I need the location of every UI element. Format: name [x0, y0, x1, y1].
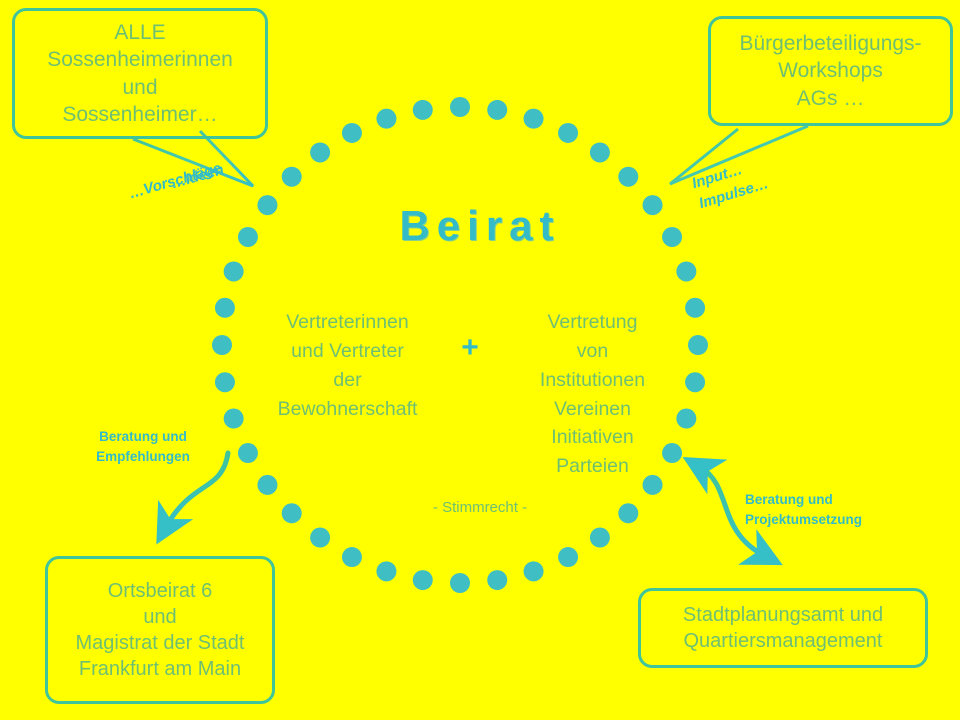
workshops-line-3: AGs …: [797, 85, 865, 112]
ring-dot: [685, 372, 705, 392]
workshops-line-2: Workshops: [778, 57, 883, 84]
ring-dot: [524, 561, 544, 581]
ring-dot: [688, 335, 708, 355]
ring-dot: [342, 547, 362, 567]
left-col-line-1: Vertreterinnen: [260, 308, 435, 337]
residents-speech-bubble: ALLE Sossenheimerinnen und Sossenheimer…: [12, 8, 268, 139]
residents-line-3: und: [122, 74, 157, 101]
ring-dot: [413, 570, 433, 590]
residents-line-2: Sossenheimerinnen: [47, 46, 233, 73]
right-col-line-6: Parteien: [505, 452, 680, 481]
ring-dot: [215, 372, 235, 392]
ortsbeirat-line-3: Magistrat der Stadt: [76, 630, 245, 656]
ring-dot: [590, 528, 610, 548]
ring-dot: [450, 97, 470, 117]
ring-dot: [376, 561, 396, 581]
ring-dot: [212, 335, 232, 355]
ring-dot: [558, 547, 578, 567]
ring-dot: [238, 443, 258, 463]
ring-dot: [342, 123, 362, 143]
ring-dot: [282, 167, 302, 187]
stadtplanung-line-2: Quartiersmanagement: [684, 628, 883, 654]
workshops-line-1: Bürgerbeteiligungs-: [739, 30, 921, 57]
ring-dot: [450, 573, 470, 593]
ortsbeirat-line-2: und: [143, 604, 176, 630]
ring-dot: [618, 167, 638, 187]
diagram-canvas: ALLE Sossenheimerinnen und Sossenheimer……: [0, 0, 960, 720]
caption-right-line-1: Beratung und: [745, 490, 910, 510]
ortsbeirat-line-4: Frankfurt am Main: [79, 656, 241, 682]
left-column-bewohnerschaft: Vertreterinnen und Vertreter der Bewohne…: [260, 308, 435, 423]
right-col-line-2: von: [505, 337, 680, 366]
ortsbeirat-line-1: Ortsbeirat 6: [108, 578, 212, 604]
beirat-title: Beirat: [0, 202, 960, 250]
right-col-line-5: Initiativen: [505, 423, 680, 452]
plus-icon: +: [447, 308, 493, 363]
right-col-line-1: Vertretung: [505, 308, 680, 337]
ring-dot: [310, 528, 330, 548]
residents-line-1: ALLE: [114, 19, 165, 46]
left-col-line-2: und Vertreter: [260, 337, 435, 366]
left-col-line-3: der: [260, 366, 435, 395]
beirat-composition: Vertreterinnen und Vertreter der Bewohne…: [260, 308, 680, 481]
ring-dot: [676, 261, 696, 281]
ring-dot: [376, 109, 396, 129]
ring-dot: [215, 298, 235, 318]
right-column-institutionen: Vertretung von Institutionen Vereinen In…: [505, 308, 680, 481]
ring-dot: [487, 570, 507, 590]
right-col-line-4: Vereinen: [505, 395, 680, 424]
stadtplanung-line-1: Stadtplanungsamt und: [683, 602, 883, 628]
workshops-speech-bubble: Bürgerbeteiligungs- Workshops AGs …: [708, 16, 953, 126]
left-col-line-4: Bewohnerschaft: [260, 395, 435, 424]
ring-dot: [685, 298, 705, 318]
ring-dot: [224, 409, 244, 429]
ring-dot: [590, 142, 610, 162]
ortsbeirat-box: Ortsbeirat 6 und Magistrat der Stadt Fra…: [45, 556, 275, 704]
ring-dot: [310, 142, 330, 162]
ring-dot: [413, 100, 433, 120]
right-col-line-3: Institutionen: [505, 366, 680, 395]
residents-line-4: Sossenheimer…: [62, 101, 217, 128]
caption-beratung-projektumsetzung: Beratung und Projektumsetzung: [745, 490, 910, 529]
caption-beratung-empfehlungen: Beratung und Empfehlungen: [73, 427, 213, 466]
caption-left-line-2: Empfehlungen: [73, 447, 213, 467]
ring-dot: [524, 109, 544, 129]
ring-dot: [224, 261, 244, 281]
caption-left-line-1: Beratung und: [73, 427, 213, 447]
ring-dot: [558, 123, 578, 143]
stadtplanungsamt-box: Stadtplanungsamt und Quartiersmanagement: [638, 588, 928, 668]
caption-right-line-2: Projektumsetzung: [745, 510, 910, 530]
ring-dot: [487, 100, 507, 120]
